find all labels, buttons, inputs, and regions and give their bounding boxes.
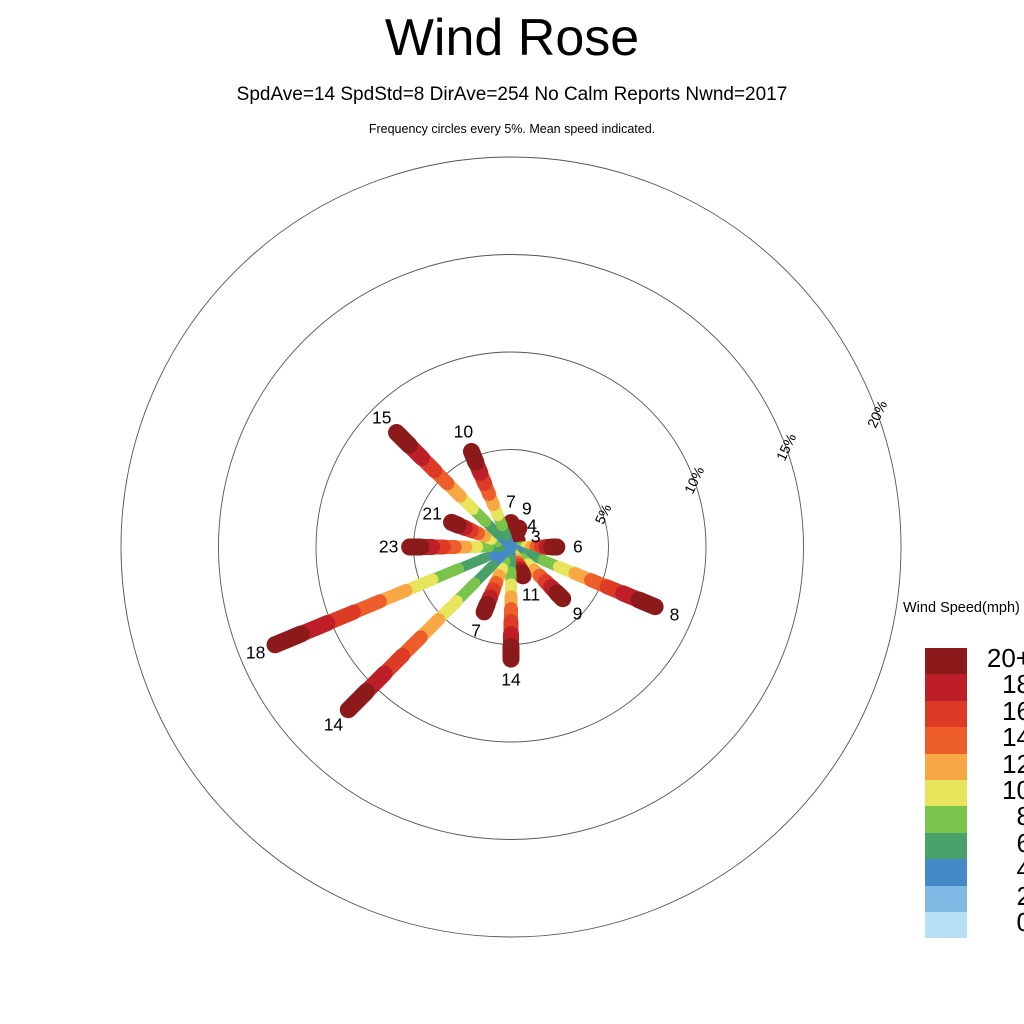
petal-mean-speed-label: 10 bbox=[454, 422, 473, 443]
petal-mean-speed-label: 14 bbox=[324, 714, 343, 735]
legend-swatch bbox=[925, 754, 967, 780]
petal-segment bbox=[518, 528, 519, 530]
legend-swatch bbox=[925, 648, 967, 674]
petal-mean-speed-label: 9 bbox=[573, 603, 583, 624]
legend-swatch bbox=[925, 701, 967, 727]
legend-swatch bbox=[925, 886, 967, 912]
legend-swatch bbox=[925, 727, 967, 753]
petal-mean-speed-label: 3 bbox=[531, 526, 541, 547]
legend-swatch bbox=[925, 912, 967, 938]
legend-row: 16 bbox=[925, 701, 967, 727]
wind-speed-legend: 20+181614121086420 bbox=[925, 648, 967, 938]
legend-swatch bbox=[925, 833, 967, 859]
petal-mean-speed-label: 15 bbox=[372, 407, 391, 428]
petal-mean-speed-label: 21 bbox=[422, 504, 441, 525]
legend-row: 12 bbox=[925, 754, 967, 780]
petal-mean-speed-label: 7 bbox=[506, 491, 516, 512]
petal-segment bbox=[452, 522, 459, 525]
petal-segment bbox=[348, 692, 366, 710]
legend-row: 10 bbox=[925, 780, 967, 806]
petal-mean-speed-label: 23 bbox=[379, 537, 398, 558]
petal-segment bbox=[557, 593, 563, 599]
petal-segment bbox=[639, 600, 655, 607]
petal-segment bbox=[397, 433, 410, 446]
petals bbox=[275, 433, 655, 710]
petal-mean-speed-label: 7 bbox=[471, 621, 481, 642]
legend-row: 14 bbox=[925, 727, 967, 753]
legend-row: 2 bbox=[925, 886, 967, 912]
wind-rose-page: Wind Rose SpdAve=14 SpdStd=8 DirAve=254 … bbox=[0, 0, 1024, 1024]
legend-row: 4 bbox=[925, 859, 967, 885]
petal-segment bbox=[484, 605, 487, 612]
petal-mean-speed-label: 6 bbox=[573, 537, 583, 558]
petal-mean-speed-label: 18 bbox=[246, 642, 265, 663]
legend-swatch bbox=[925, 859, 967, 885]
petal-segment bbox=[522, 573, 523, 576]
legend-swatch bbox=[925, 674, 967, 700]
legend-row: 8 bbox=[925, 806, 967, 832]
petal-mean-speed-label: 8 bbox=[670, 604, 680, 625]
petal-mean-speed-label: 14 bbox=[501, 670, 520, 691]
legend-row: 20+ bbox=[925, 648, 967, 674]
petal-segment bbox=[275, 634, 301, 645]
legend-swatch bbox=[925, 806, 967, 832]
legend-swatch bbox=[925, 780, 967, 806]
petal-segment bbox=[471, 452, 475, 463]
legend-title: Wind Speed(mph) bbox=[903, 600, 1020, 616]
legend-label: 0 bbox=[973, 907, 1024, 938]
legend-row: 0 bbox=[925, 912, 967, 938]
legend-row: 18 bbox=[925, 674, 967, 700]
petal-mean-speed-label: 11 bbox=[522, 585, 540, 606]
legend-row: 6 bbox=[925, 833, 967, 859]
